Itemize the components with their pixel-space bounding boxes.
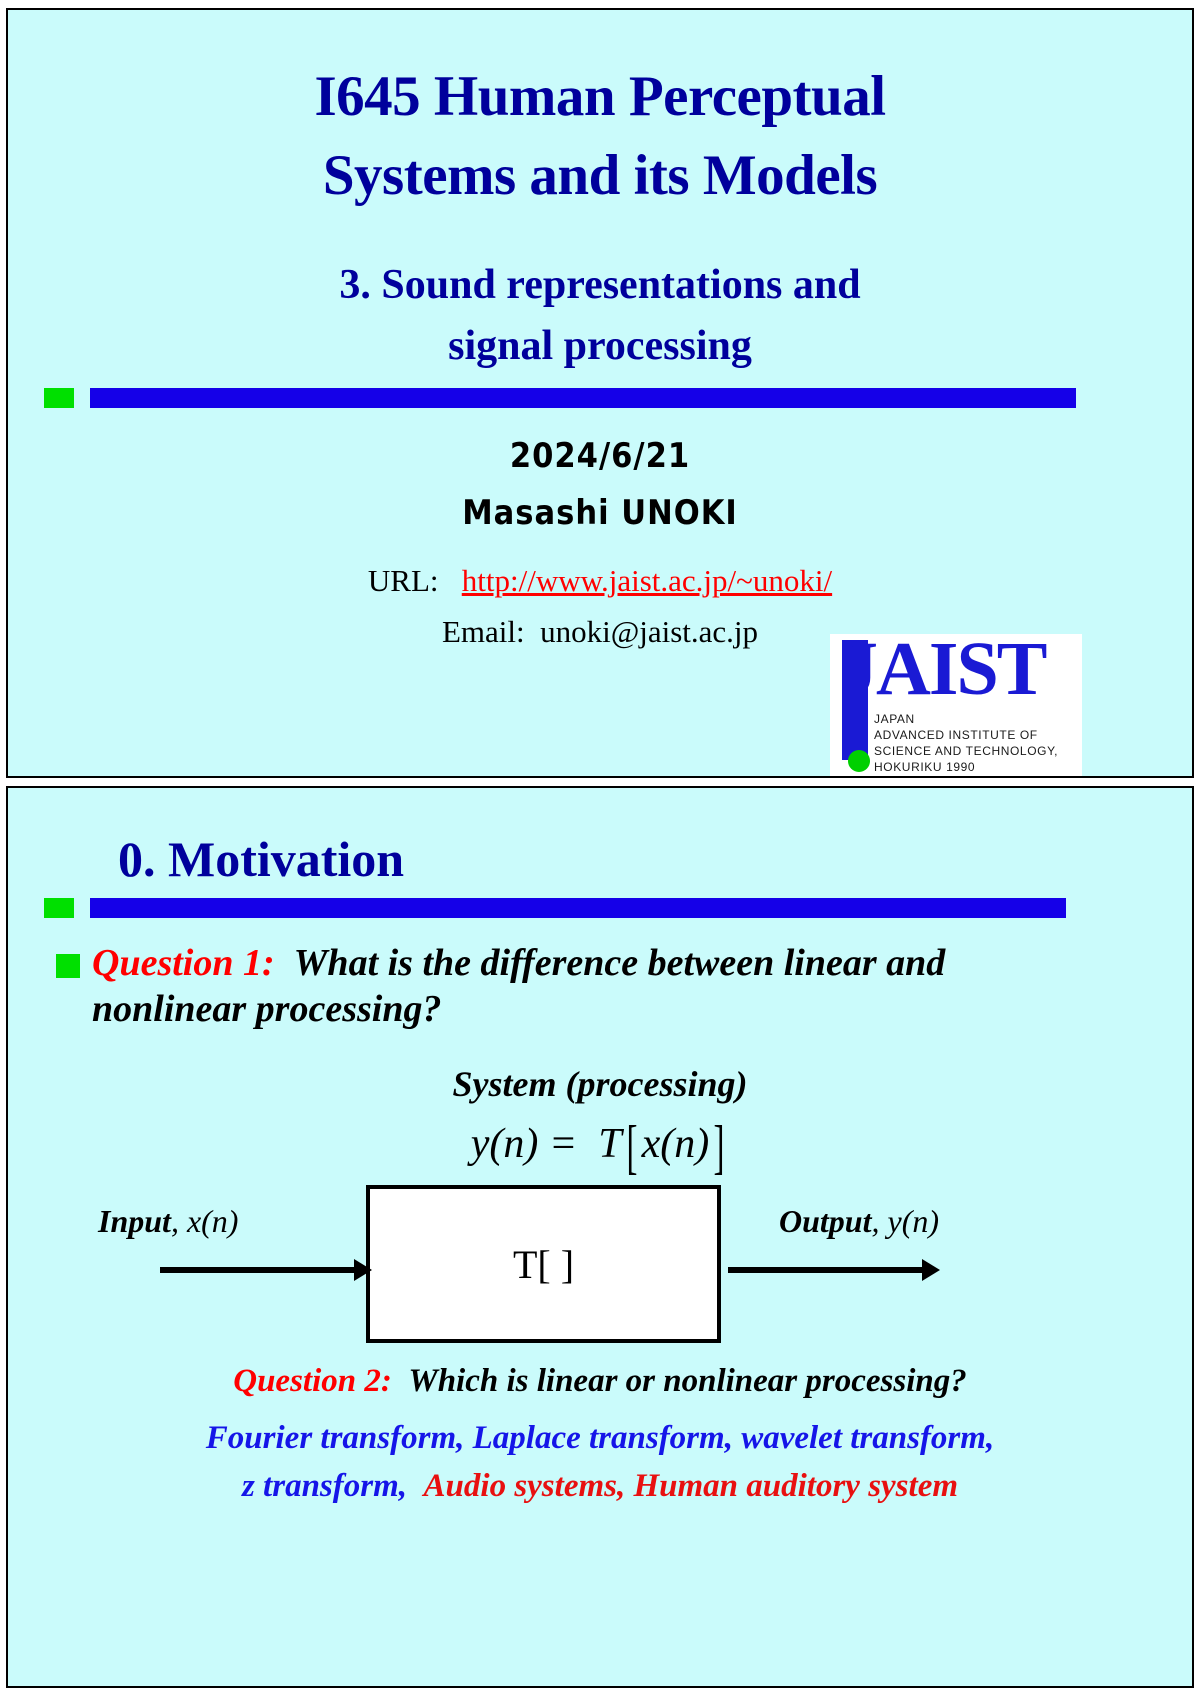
transform-list-blue-part: z transform, <box>242 1468 407 1504</box>
title-slide: I645 Human Perceptual Systems and its Mo… <box>6 8 1194 778</box>
question-2-text: Which is linear or nonlinear processing? <box>408 1363 966 1399</box>
green-square-marker <box>44 898 74 918</box>
jaist-logo-subtext-2: ADVANCED INSTITUTE OF <box>874 728 1038 742</box>
jaist-logo-subtext-1: JAPAN <box>874 712 915 726</box>
system-block-label: T[ ] <box>370 1241 717 1288</box>
section-title: 0. Motivation <box>118 830 404 888</box>
section-divider-rule <box>44 898 1066 918</box>
question-2-body: Question 2: Which is linear or nonlinear… <box>0 1363 1200 1400</box>
lecture-subtitle-line-2: signal processing <box>8 316 1192 377</box>
course-title-line-2: Systems and its Models <box>8 137 1192 216</box>
email-value: unoki@jaist.ac.jp <box>540 614 758 649</box>
url-label: URL: <box>368 563 439 598</box>
system-equation: y(n) = T[x(n)] <box>0 1113 1200 1182</box>
input-label-rest: , x(n) <box>171 1203 239 1239</box>
transform-list-line-1: Fourier transform, Laplace transform, wa… <box>0 1420 1200 1457</box>
question-1-body: Question 1: What is the difference betwe… <box>92 940 1066 1033</box>
jaist-logo-subtext-4: HOKURIKU 1990 <box>874 760 975 774</box>
jaist-logo-subtext-3: SCIENCE AND TECHNOLOGY, <box>874 744 1058 758</box>
input-label: Input, x(n) <box>98 1203 238 1240</box>
output-label-rest: , y(n) <box>871 1203 939 1239</box>
homepage-link[interactable]: http://www.jaist.ac.jp/~unoki/ <box>462 563 832 598</box>
author-name: Masashi UNOKI <box>8 493 1192 533</box>
email-label: Email: <box>442 614 525 649</box>
equation-operator: T <box>598 1121 621 1167</box>
lecture-subtitle-line-1: 3. Sound representations and <box>8 255 1192 316</box>
input-arrow-icon <box>160 1267 356 1273</box>
blue-rule-bar <box>90 898 1066 918</box>
green-square-marker <box>44 388 74 408</box>
output-arrow-icon <box>728 1267 924 1273</box>
question-2-label: Question 2: <box>233 1363 392 1399</box>
transform-list-red-part: Audio systems, Human auditory system <box>424 1468 958 1504</box>
course-title-line-1: I645 Human Perceptual <box>8 58 1192 137</box>
equation-argument: x(n) <box>642 1121 710 1167</box>
jaist-wordmark: JAIST <box>840 634 1045 713</box>
input-label-bold: Input <box>98 1203 171 1239</box>
jaist-logo: JAIST JAPAN ADVANCED INSTITUTE OF SCIENC… <box>830 634 1082 778</box>
question-1-bullet: Question 1: What is the difference betwe… <box>56 940 1066 1033</box>
output-label: Output, y(n) <box>779 1203 939 1240</box>
system-label: System (processing) <box>0 1063 1200 1105</box>
equation-bracket-close: ] <box>714 1113 725 1182</box>
transform-list-line-2: z transform, Audio systems, Human audito… <box>0 1468 1200 1505</box>
lecture-subtitle: 3. Sound representations and signal proc… <box>8 255 1192 377</box>
url-row: URL: http://www.jaist.ac.jp/~unoki/ <box>8 563 1192 599</box>
title-divider-rule <box>44 388 1076 408</box>
lecture-date: 2024/6/21 <box>8 436 1192 476</box>
blue-rule-bar <box>90 388 1076 408</box>
question-1-label: Question 1: <box>92 942 275 984</box>
equation-bracket-open: [ <box>626 1113 637 1182</box>
system-block-box: T[ ] <box>366 1185 721 1343</box>
equation-lhs: y(n) = <box>471 1121 577 1167</box>
course-title: I645 Human Perceptual Systems and its Mo… <box>8 58 1192 215</box>
green-bullet-icon <box>56 954 80 978</box>
slide-deck-page: I645 Human Perceptual Systems and its Mo… <box>0 0 1200 1696</box>
jaist-logo-green-dot <box>848 750 870 772</box>
output-label-bold: Output <box>779 1203 871 1239</box>
